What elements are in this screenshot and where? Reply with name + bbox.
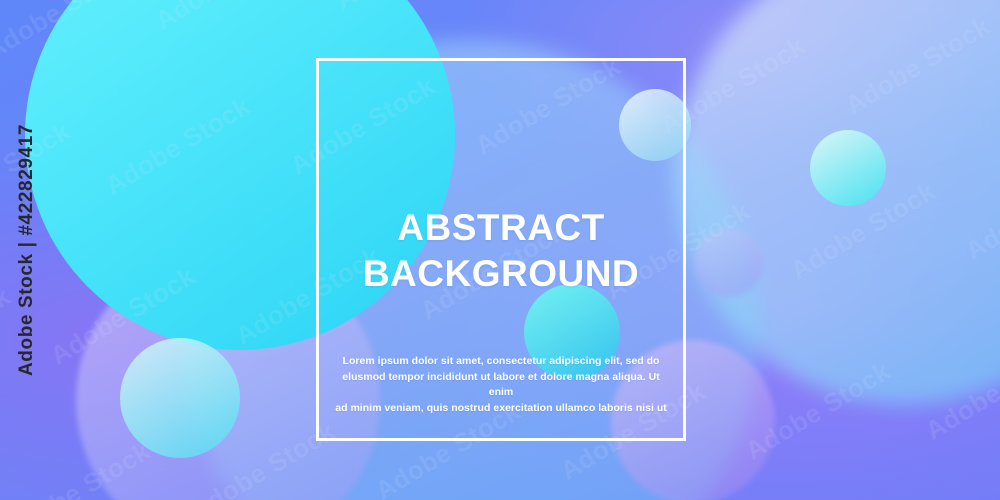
shape-cyan-bottom-left xyxy=(120,338,240,458)
shape-pale-in-frame-top xyxy=(619,89,691,161)
shape-mid-cyan-right xyxy=(810,130,886,206)
artwork-canvas xyxy=(0,0,1000,500)
gradient-shapes-svg xyxy=(0,0,1000,500)
shape-teal-in-frame xyxy=(524,284,620,380)
shape-lavender-bottom-right xyxy=(611,340,775,500)
abstract-background-artboard: Adobe StockAdobe StockAdobe StockAdobe S… xyxy=(0,0,1000,500)
shape-small-lilac-right xyxy=(695,229,763,297)
